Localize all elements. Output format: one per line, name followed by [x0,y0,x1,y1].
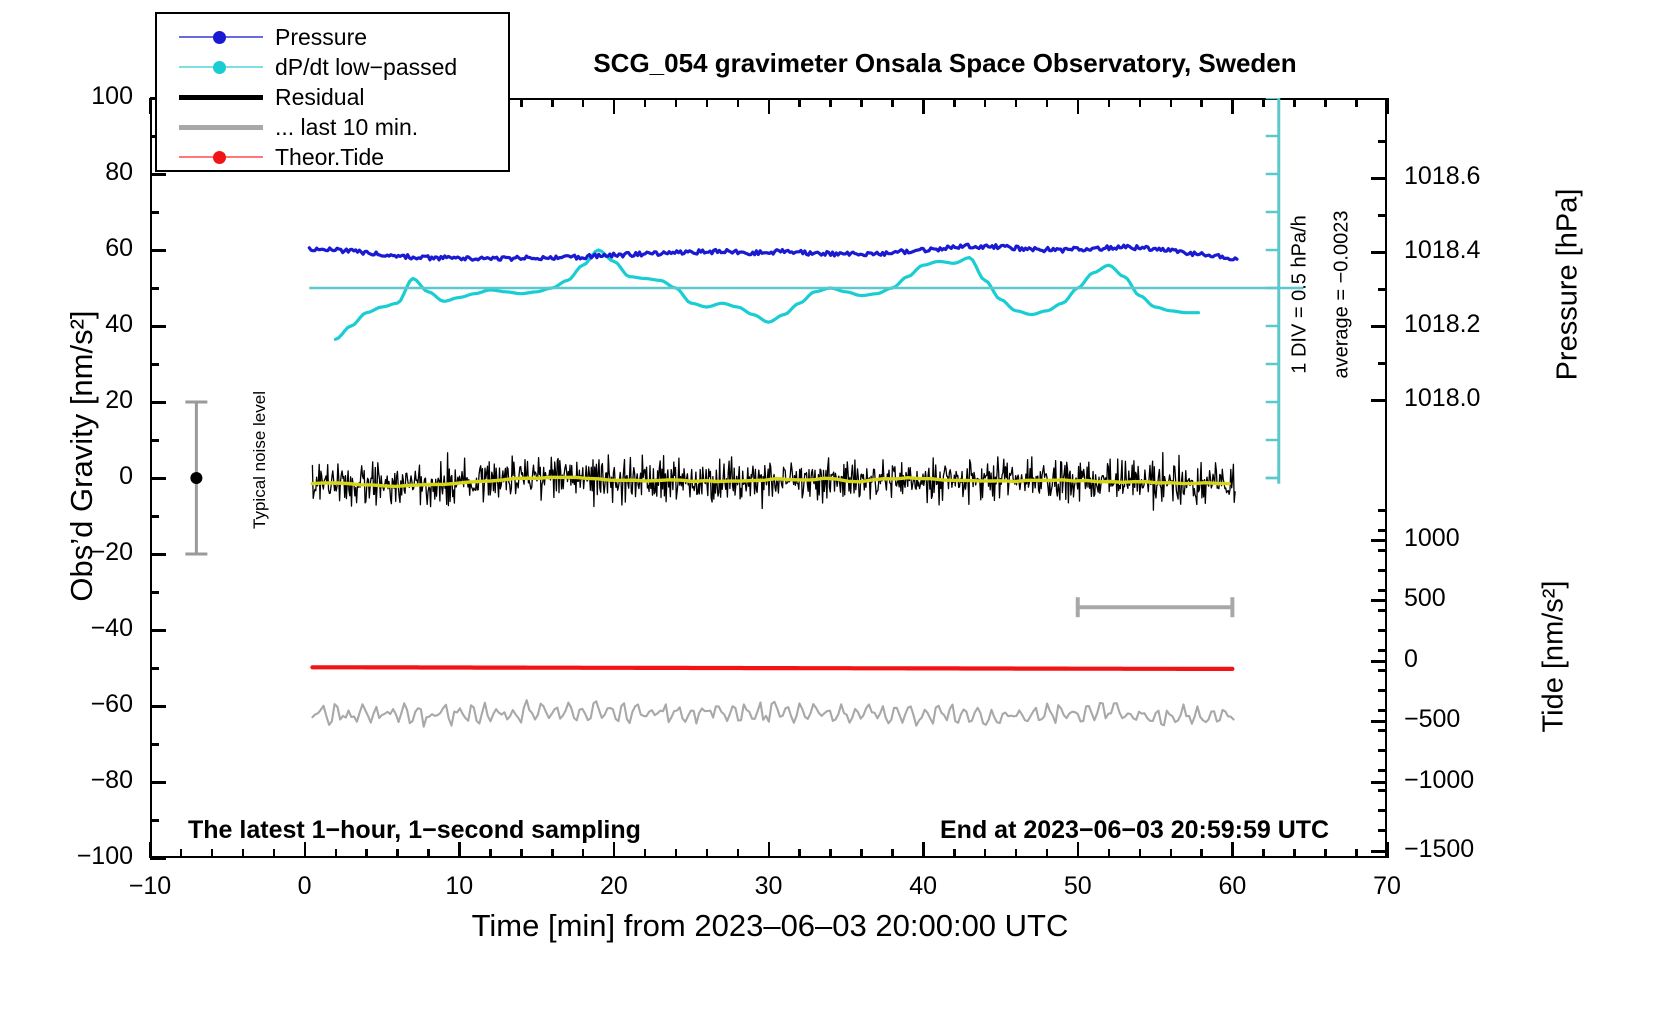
noise-level-label: Typical noise level [250,350,270,570]
noise-level-marker [185,402,207,554]
y-tick-label-tide: 0 [1404,645,1418,674]
y-axis-label-tide: Tide [nm/s²] [1538,507,1571,807]
x-tick-label: 0 [245,872,365,901]
y-tick-label-left: 0 [13,462,133,491]
legend-item-pressure[interactable]: Pressure [157,22,508,52]
y-tick-label-left: −100 [13,842,133,871]
dpdt-average-note: average = −0.0023 [1331,185,1354,405]
y-tick-label-left: 80 [13,158,133,187]
y-tick-label-pressure: 1018.4 [1404,236,1480,265]
last10-span-bar [1078,597,1233,617]
legend: Pressure dP/dt low−passed Residual ... l… [155,12,510,172]
x-tick-label: 50 [1018,872,1138,901]
y-tick-label-pressure: 1018.6 [1404,162,1480,191]
legend-swatch-last10 [179,120,263,134]
legend-label: Theor.Tide [275,146,384,169]
y-tick-label-left: −60 [13,690,133,719]
footer-note-right: End at 2023−06−03 20:59:59 UTC [940,816,1329,845]
chart-title: SCG_054 gravimeter Onsala Space Observat… [430,48,1460,79]
y-tick-label-tide: −1000 [1404,766,1474,795]
y-tick-label-left: −80 [13,766,133,795]
footer-note-left: The latest 1−hour, 1−second sampling [188,816,641,845]
x-tick-label: 40 [863,872,983,901]
x-tick-label: 20 [554,872,674,901]
legend-swatch-residual [179,90,263,104]
y-tick-label-tide: 500 [1404,584,1446,613]
y-axis-label-pressure: Pressure [hPa] [1552,105,1585,465]
legend-item-tide[interactable]: Theor.Tide [157,142,508,172]
legend-item-last10[interactable]: ... last 10 min. [157,112,508,142]
x-axis-label: Time [min] from 2023‒06‒03 20:00:00 UTC [150,908,1390,944]
x-tick-label: 70 [1327,872,1447,901]
series-last10-path [312,700,1233,727]
y-tick-label-left: 100 [13,82,133,111]
legend-swatch-tide [179,150,263,164]
legend-label: dP/dt low−passed [275,56,457,79]
y-tick-label-left: 20 [13,386,133,415]
y-tick-label-tide: −1500 [1404,835,1474,864]
y-tick-label-tide: 1000 [1404,524,1460,553]
series-pressure-path [309,244,1237,260]
legend-item-dpdt[interactable]: dP/dt low−passed [157,52,508,82]
y-tick-label-left: 40 [13,310,133,339]
x-tick-label: 10 [399,872,519,901]
x-tick-label: −10 [90,872,210,901]
legend-item-residual[interactable]: Residual [157,82,508,112]
legend-label: Pressure [275,26,367,49]
legend-swatch-dpdt [179,60,263,74]
y-tick-label-pressure: 1018.0 [1404,384,1480,413]
legend-swatch-pressure [179,30,263,44]
y-tick-label-left: −40 [13,614,133,643]
series-tide-path [312,667,1232,669]
y-tick-label-left: 60 [13,234,133,263]
legend-label: Residual [275,86,365,109]
legend-label: ... last 10 min. [275,116,418,139]
dpdt-scale-note: 1 DIV = 0.5 hPa/h [1289,185,1312,405]
series-dpdt-path [336,250,1199,339]
y-tick-label-left: −20 [13,538,133,567]
y-tick-label-tide: −500 [1404,705,1460,734]
x-tick-label: 30 [709,872,829,901]
x-tick-label: 60 [1172,872,1292,901]
y-tick-label-pressure: 1018.2 [1404,310,1480,339]
data-curves [150,98,1387,858]
